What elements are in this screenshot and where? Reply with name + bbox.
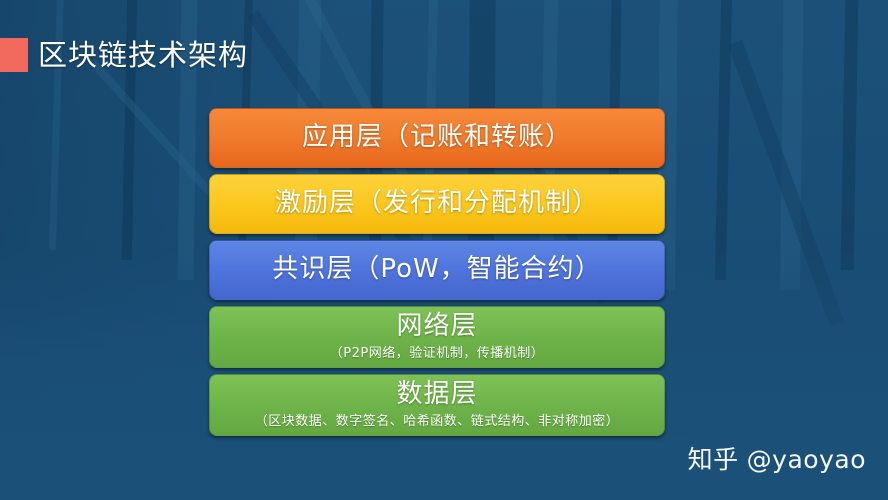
- page-title: 区块链技术架构: [38, 38, 248, 72]
- layer-application-title: 应用层（记账和转账）: [302, 124, 572, 151]
- slide-canvas: 区块链技术架构 应用层（记账和转账） 激励层（发行和分配机制） 共识层（PoW，…: [0, 0, 888, 500]
- watermark: 知乎@yaoyao: [688, 440, 866, 476]
- layer-incentive-title: 激励层（发行和分配机制）: [275, 190, 599, 217]
- layer-data-title: 数据层: [396, 381, 477, 408]
- layer-network-subtitle: （P2P网络，验证机制，传播机制）: [330, 347, 544, 361]
- title-accent-marker: [0, 38, 28, 72]
- layer-network[interactable]: 网络层 （P2P网络，验证机制，传播机制）: [209, 306, 665, 368]
- layer-consensus[interactable]: 共识层（PoW，智能合约）: [209, 240, 665, 300]
- layer-consensus-title: 共识层（PoW，智能合约）: [272, 256, 601, 283]
- layer-application[interactable]: 应用层（记账和转账）: [209, 108, 665, 168]
- blockchain-layer-stack: 应用层（记账和转账） 激励层（发行和分配机制） 共识层（PoW，智能合约） 网络…: [209, 108, 665, 442]
- layer-network-title: 网络层: [396, 313, 477, 340]
- layer-incentive[interactable]: 激励层（发行和分配机制）: [209, 174, 665, 234]
- watermark-site: 知乎: [688, 445, 739, 474]
- layer-data-subtitle: （区块数据、数字签名、哈希函数、链式结构、非对称加密）: [255, 415, 620, 429]
- watermark-handle: @yaoyao: [747, 445, 866, 474]
- layer-data[interactable]: 数据层 （区块数据、数字签名、哈希函数、链式结构、非对称加密）: [209, 374, 665, 436]
- slide-header: 区块链技术架构: [0, 38, 248, 72]
